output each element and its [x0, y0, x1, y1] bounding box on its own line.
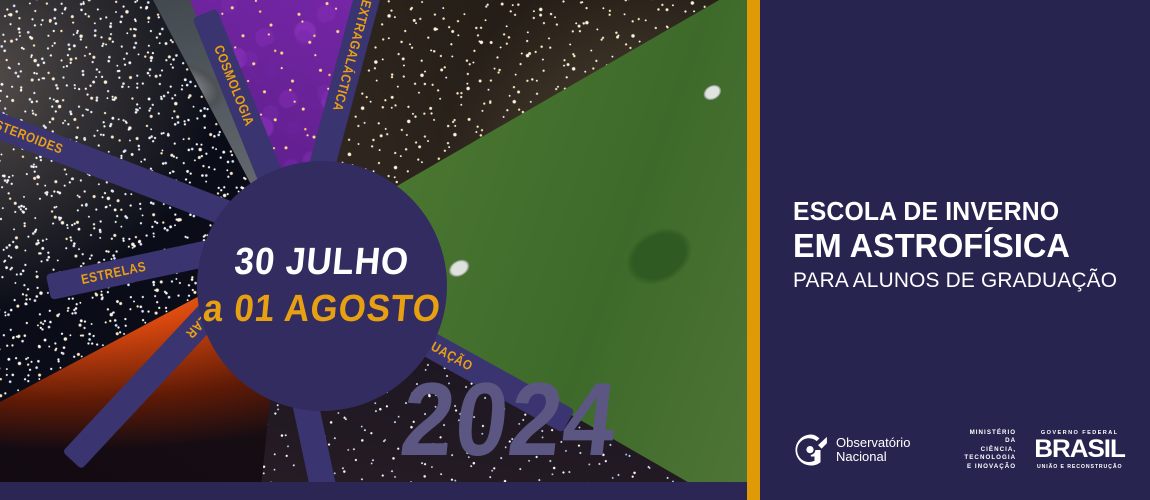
- date-end: a 01 AGOSTO: [201, 288, 443, 331]
- poster-banner: ASTEROIDES COSMOLOGIA EXTRAGALÁCTICA PES…: [0, 0, 1150, 500]
- logo-row: Observatório Nacional MINISTÉRIO DA CIÊN…: [793, 424, 1123, 476]
- observatorio-nacional-wordmark: Observatório Nacional: [836, 436, 910, 465]
- topic-collage: ASTEROIDES COSMOLOGIA EXTRAGALÁCTICA PES…: [0, 0, 748, 500]
- ministerio-line-1: MINISTÉRIO DA: [964, 429, 1016, 446]
- gold-divider: [747, 0, 760, 500]
- title-panel: ESCOLA DE INVERNO EM ASTROFÍSICA PARA AL…: [760, 0, 1150, 500]
- title-line-2: EM ASTROFÍSICA: [793, 228, 1113, 266]
- ministerio-line-2: CIÊNCIA, TECNOLOGIA: [964, 446, 1016, 463]
- logo-ministerio-cti: MINISTÉRIO DA CIÊNCIA, TECNOLOGIA E INOV…: [964, 429, 1016, 472]
- brasil-wordmark: BRASIL: [1034, 437, 1125, 462]
- event-date: 30 JULHO a 01 AGOSTO: [197, 161, 447, 411]
- observatorio-nacional-mark-icon: [793, 432, 829, 468]
- observatorio-line-2: Nacional: [836, 450, 910, 465]
- title-line-1: ESCOLA DE INVERNO: [793, 198, 1113, 227]
- collage-bottom-band: [0, 482, 748, 500]
- logo-governo-federal: GOVERNO FEDERAL BRASIL UNIÃO E RECONSTRU…: [1036, 430, 1123, 470]
- ministerio-line-3: E INOVAÇÃO: [964, 463, 1016, 472]
- date-start: 30 JULHO: [233, 241, 412, 284]
- event-title: ESCOLA DE INVERNO EM ASTROFÍSICA PARA AL…: [793, 198, 1123, 293]
- logo-observatorio-nacional: Observatório Nacional: [793, 432, 910, 468]
- observatorio-line-1: Observatório: [836, 436, 910, 451]
- title-line-3: PARA ALUNOS DE GRADUAÇÃO: [793, 268, 1113, 293]
- uniao-reconstrucao-label: UNIÃO E RECONSTRUÇÃO: [1036, 464, 1123, 470]
